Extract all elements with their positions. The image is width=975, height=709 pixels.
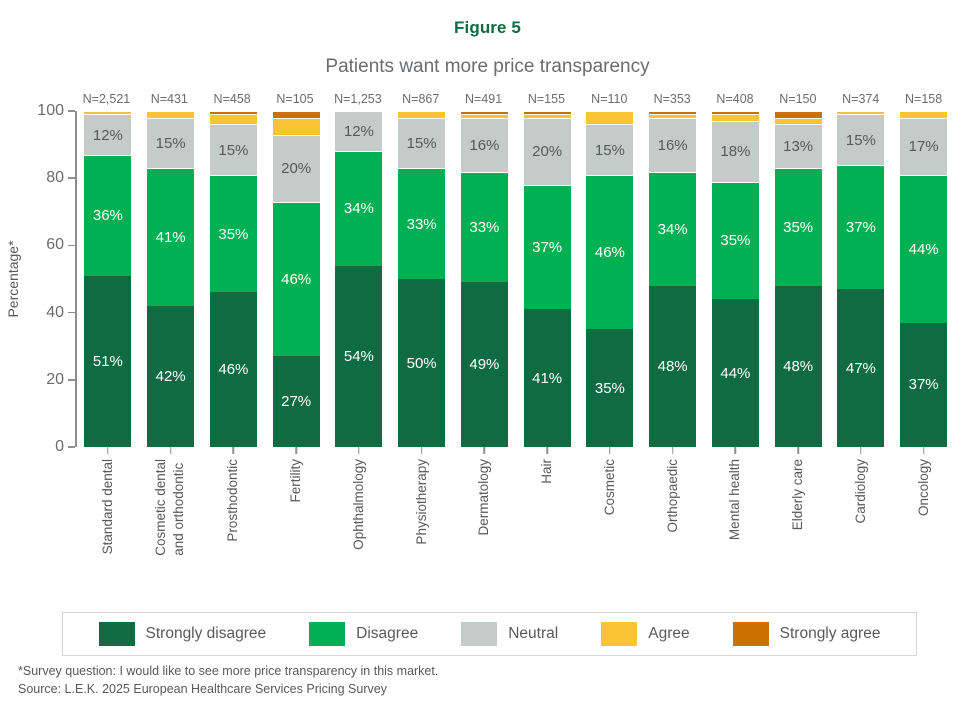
bar-segment[interactable]: 46% <box>273 202 320 357</box>
bar-segment[interactable]: 54% <box>335 266 382 447</box>
x-axis-category-label: Hair <box>538 459 556 484</box>
bar-segment[interactable]: 44% <box>900 175 947 323</box>
bar-segment[interactable]: 42% <box>147 306 194 447</box>
bar-segment[interactable] <box>586 111 633 124</box>
x-axis-category-label: Elderly care <box>789 459 807 530</box>
bar-segment-label: 50% <box>407 356 437 371</box>
sample-size-label: N=150 <box>766 88 829 110</box>
x-axis-category-label: Cardiology <box>852 459 870 524</box>
bar-segment-label: 35% <box>595 381 625 396</box>
bar-segment-label: 35% <box>783 220 813 235</box>
bar-segment[interactable]: 37% <box>900 323 947 447</box>
x-axis-category: Cosmetic <box>579 459 642 607</box>
legend-item-label: Neutral <box>508 625 558 643</box>
stacked-bar[interactable]: 15%35%46% <box>210 111 257 447</box>
sample-size-label: N=491 <box>452 88 515 110</box>
bar-segment[interactable]: 44% <box>712 299 759 447</box>
stacked-bar[interactable]: 16%34%48% <box>649 111 696 447</box>
legend-swatch-strongly-agree <box>733 622 769 646</box>
bar-segment[interactable] <box>775 111 822 118</box>
bar-segment[interactable]: 18% <box>712 121 759 181</box>
y-axis-tick <box>68 177 75 179</box>
bar-segment[interactable]: 46% <box>210 292 257 447</box>
x-axis-tick <box>735 447 737 454</box>
bar-segment[interactable]: 35% <box>210 175 257 293</box>
y-axis-tick <box>68 312 75 314</box>
bar-segment[interactable] <box>900 111 947 118</box>
x-axis-category-labels: Standard dentalCosmetic dental and ortho… <box>77 459 956 607</box>
sample-size-label: N=105 <box>264 88 327 110</box>
stacked-bar[interactable]: 13%35%48% <box>775 111 822 447</box>
bar-slot: 15%35%46% <box>202 111 265 447</box>
x-axis-tick <box>107 447 109 454</box>
bar-segment-label: 18% <box>720 144 750 159</box>
bar-segment[interactable]: 35% <box>712 182 759 300</box>
y-axis-tick-label: 40 <box>46 304 64 322</box>
x-axis-category-label: Mental health <box>726 459 744 540</box>
bar-segment-label: 51% <box>93 354 123 369</box>
bar-segment[interactable]: 13% <box>775 124 822 168</box>
sample-size-row: N=2,521N=431N=458N=105N=1,253N=867N=491N… <box>75 88 955 110</box>
x-axis-category: Hair <box>516 459 579 607</box>
bar-segment-label: 44% <box>720 366 750 381</box>
legend-swatch-neutral <box>461 622 497 646</box>
legend-item-label: Strongly agree <box>780 625 881 643</box>
sample-size-label: N=353 <box>641 88 704 110</box>
legend-item[interactable]: Neutral <box>461 622 558 646</box>
bar-segment-label: 46% <box>281 272 311 287</box>
bar-segment-label: 35% <box>720 233 750 248</box>
bar-segment-label: 47% <box>846 361 876 376</box>
bar-segment-label: 35% <box>218 227 248 242</box>
bar-segment[interactable]: 20% <box>524 118 571 185</box>
stacked-bar[interactable]: 15%46%35% <box>586 111 633 447</box>
bar-segment[interactable]: 36% <box>84 155 131 276</box>
bar-segment-label: 37% <box>532 240 562 255</box>
bar-segment[interactable]: 49% <box>461 282 508 447</box>
chart-legend: Strongly disagreeDisagreeNeutralAgreeStr… <box>62 612 917 656</box>
y-axis-tick-label: 20 <box>46 371 64 389</box>
legend-swatch-disagree <box>309 622 345 646</box>
x-axis-category-label: Physiotherapy <box>413 459 431 545</box>
bar-segment-label: 34% <box>658 222 688 237</box>
x-axis-tick <box>546 447 548 454</box>
sample-size-label: N=155 <box>515 88 578 110</box>
bar-segment-label: 13% <box>783 139 813 154</box>
bar-segment[interactable]: 33% <box>398 168 445 279</box>
bar-segment-label: 12% <box>93 128 123 143</box>
bar-segment[interactable]: 17% <box>900 118 947 175</box>
bar-segment[interactable] <box>147 111 194 118</box>
bar-slot: 16%34%48% <box>641 111 704 447</box>
bar-segment[interactable]: 34% <box>335 151 382 265</box>
y-axis-title: Percentage* <box>5 240 21 317</box>
y-axis-tick <box>68 110 75 112</box>
stacked-bar[interactable]: 18%35%44% <box>712 111 759 447</box>
x-axis-tick <box>295 447 297 454</box>
bar-segment[interactable] <box>712 114 759 121</box>
x-axis-category: Prosthodontic <box>202 459 265 607</box>
bar-segment-label: 15% <box>218 143 248 158</box>
bar-segment-label: 48% <box>783 359 813 374</box>
bar-segment-label: 15% <box>846 133 876 148</box>
bar-segment[interactable]: 48% <box>649 286 696 447</box>
bar-segment[interactable]: 15% <box>837 114 884 164</box>
bar-segment-label: 15% <box>407 136 437 151</box>
footnotes: *Survey question: I would like to see mo… <box>18 662 918 698</box>
bar-slot: 12%36%51% <box>77 111 140 447</box>
bar-segment[interactable]: 15% <box>398 118 445 168</box>
x-axis-category: Ophthalmology <box>328 459 391 607</box>
stacked-bar[interactable]: 20%46%27% <box>273 111 320 447</box>
bar-segment[interactable]: 27% <box>273 356 320 447</box>
stacked-bar[interactable]: 20%37%41% <box>524 111 571 447</box>
bar-segment[interactable]: 46% <box>586 175 633 330</box>
bar-segment[interactable]: 20% <box>273 135 320 202</box>
bar-slot: 15%33%50% <box>390 111 453 447</box>
bar-group: 12%36%51%15%41%42%15%35%46%20%46%27%12%3… <box>77 111 956 447</box>
x-axis-tick <box>672 447 674 454</box>
x-axis-category: Standard dental <box>77 459 140 607</box>
y-axis-tick-label: 80 <box>46 169 64 187</box>
bar-segment-label: 44% <box>909 242 939 257</box>
bar-segment[interactable] <box>398 111 445 118</box>
bar-segment-label: 15% <box>156 136 186 151</box>
x-axis-tick <box>421 447 423 454</box>
bar-segment-label: 37% <box>909 377 939 392</box>
x-axis-category: Mental health <box>704 459 767 607</box>
bar-segment-label: 27% <box>281 394 311 409</box>
sample-size-label: N=431 <box>138 88 201 110</box>
bar-segment[interactable]: 41% <box>524 309 571 447</box>
bar-segment[interactable]: 48% <box>775 286 822 447</box>
bar-segment[interactable] <box>273 111 320 118</box>
bar-segment[interactable]: 16% <box>649 118 696 172</box>
stacked-bar[interactable]: 12%34%54% <box>335 111 382 447</box>
bar-segment[interactable]: 35% <box>586 329 633 447</box>
y-axis-tick-label: 60 <box>46 236 64 254</box>
x-axis-category: Cardiology <box>830 459 893 607</box>
x-axis-tick <box>797 447 799 454</box>
x-axis-category: Oncology <box>892 459 955 607</box>
bar-slot: 17%44%37% <box>892 111 955 447</box>
bar-slot: 15%37%47% <box>830 111 893 447</box>
bar-slot: 20%46%27% <box>265 111 328 447</box>
figure-label: Figure 5 <box>0 18 975 38</box>
bar-segment-label: 42% <box>156 369 186 384</box>
sample-size-label: N=158 <box>892 88 955 110</box>
bar-segment-label: 12% <box>344 124 374 139</box>
bar-segment[interactable]: 15% <box>210 124 257 174</box>
bar-segment-label: 33% <box>407 217 437 232</box>
x-axis-tick <box>923 447 925 454</box>
x-axis-category: Dermatology <box>453 459 516 607</box>
bar-segment-label: 46% <box>218 362 248 377</box>
bar-segment[interactable]: 15% <box>586 124 633 174</box>
x-axis-category-label: Dermatology <box>475 459 493 536</box>
legend-item-label: Disagree <box>356 625 418 643</box>
bar-segment[interactable]: 47% <box>837 289 884 447</box>
bar-segment[interactable]: 12% <box>335 111 382 151</box>
bar-segment[interactable]: 50% <box>398 279 445 447</box>
sample-size-label: N=374 <box>829 88 892 110</box>
x-axis-tick <box>233 447 235 454</box>
x-axis-category-label: Ophthalmology <box>350 459 368 550</box>
bar-segment[interactable] <box>210 114 257 124</box>
x-axis-category-label: Cosmetic <box>601 459 619 515</box>
stacked-bar[interactable]: 15%37%47% <box>837 111 884 447</box>
y-axis-tick-label: 100 <box>37 102 64 120</box>
x-axis-category-label: Cosmetic dental and orthodontic <box>152 459 188 556</box>
bar-slot: 15%46%35% <box>579 111 642 447</box>
chart-title: Patients want more price transparency <box>0 56 975 78</box>
footnote-source: Source: L.E.K. 2025 European Healthcare … <box>18 680 918 698</box>
bar-segment-label: 41% <box>532 371 562 386</box>
bar-segment[interactable]: 37% <box>524 185 571 309</box>
x-axis-category: Fertility <box>265 459 328 607</box>
legend-swatch-agree <box>601 622 637 646</box>
bar-segment-label: 46% <box>595 245 625 260</box>
bar-segment-label: 20% <box>532 144 562 159</box>
x-axis-tick <box>860 447 862 454</box>
sample-size-label: N=867 <box>389 88 452 110</box>
bar-segment-label: 15% <box>595 143 625 158</box>
y-axis-tick <box>68 446 75 448</box>
sample-size-label: N=1,253 <box>326 88 389 110</box>
legend-item-label: Agree <box>648 625 689 643</box>
y-axis-tick <box>68 379 75 381</box>
bar-segment[interactable]: 37% <box>837 165 884 289</box>
bar-segment[interactable] <box>273 118 320 135</box>
x-axis-category: Cosmetic dental and orthodontic <box>139 459 202 607</box>
sample-size-label: N=2,521 <box>75 88 138 110</box>
bar-segment[interactable]: 16% <box>461 118 508 172</box>
axis-area: Percentage* 020406080100 12%36%51%15%41%… <box>75 111 955 447</box>
footnote-survey-question: *Survey question: I would like to see mo… <box>18 662 918 680</box>
x-axis-tick <box>484 447 486 454</box>
bar-segment-label: 54% <box>344 349 374 364</box>
bar-segment-label: 33% <box>469 220 499 235</box>
bar-segment-label: 49% <box>469 357 499 372</box>
bar-segment-label: 20% <box>281 161 311 176</box>
stacked-bar[interactable]: 15%33%50% <box>398 111 445 447</box>
bar-segment-label: 48% <box>658 359 688 374</box>
bar-segment[interactable]: 34% <box>649 172 696 286</box>
bar-slot: 18%35%44% <box>704 111 767 447</box>
legend-item[interactable]: Strongly agree <box>733 622 881 646</box>
bar-segment-label: 34% <box>344 201 374 216</box>
x-axis-category: Elderly care <box>767 459 830 607</box>
bar-segment-label: 16% <box>469 138 499 153</box>
x-axis-category-label: Standard dental <box>99 459 117 554</box>
bar-slot: 15%41%42% <box>139 111 202 447</box>
bar-segment-label: 37% <box>846 220 876 235</box>
bar-segment-label: 36% <box>93 208 123 223</box>
bar-segment-label: 17% <box>909 139 939 154</box>
y-axis-tick-label: 0 <box>55 438 64 456</box>
legend-item[interactable]: Disagree <box>309 622 418 646</box>
x-axis-category-label: Oncology <box>915 459 933 516</box>
sample-size-label: N=408 <box>704 88 767 110</box>
bar-segment-label: 41% <box>156 230 186 245</box>
stacked-bar[interactable]: 12%36%51% <box>84 111 131 447</box>
x-axis-category-label: Prosthodontic <box>224 459 242 542</box>
legend-item[interactable]: Agree <box>601 622 689 646</box>
bar-slot: 16%33%49% <box>453 111 516 447</box>
x-axis-tick <box>609 447 611 454</box>
stacked-bar[interactable]: 17%44%37% <box>900 111 947 447</box>
bar-slot: 12%34%54% <box>328 111 391 447</box>
plot-area: N=2,521N=431N=458N=105N=1,253N=867N=491N… <box>75 88 955 453</box>
legend-swatch-strongly-disagree <box>99 622 135 646</box>
x-axis-category: Physiotherapy <box>390 459 453 607</box>
bar-segment[interactable] <box>775 118 822 125</box>
sample-size-label: N=458 <box>201 88 264 110</box>
stacked-bar[interactable]: 15%41%42% <box>147 111 194 447</box>
bar-slot: 13%35%48% <box>767 111 830 447</box>
figure-container: Figure 5 Patients want more price transp… <box>0 0 975 709</box>
bar-segment[interactable]: 51% <box>84 276 131 447</box>
bar-segment[interactable]: 35% <box>775 168 822 286</box>
bar-slot: 20%37%41% <box>516 111 579 447</box>
legend-item[interactable]: Strongly disagree <box>99 622 267 646</box>
legend-item-label: Strongly disagree <box>146 625 267 643</box>
x-axis-category-label: Orthopaedic <box>664 459 682 533</box>
x-axis-category: Orthopaedic <box>641 459 704 607</box>
x-axis-tick <box>170 447 172 454</box>
sample-size-label: N=110 <box>578 88 641 110</box>
bar-segment[interactable]: 33% <box>461 172 508 283</box>
bar-segment-label: 16% <box>658 138 688 153</box>
stacked-bar[interactable]: 16%33%49% <box>461 111 508 447</box>
bar-segment[interactable]: 15% <box>147 118 194 168</box>
bar-segment[interactable]: 41% <box>147 168 194 306</box>
x-axis-category-label: Fertility <box>287 459 305 503</box>
bar-segment[interactable]: 12% <box>84 114 131 154</box>
x-axis-tick <box>358 447 360 454</box>
y-axis-tick <box>68 245 75 247</box>
